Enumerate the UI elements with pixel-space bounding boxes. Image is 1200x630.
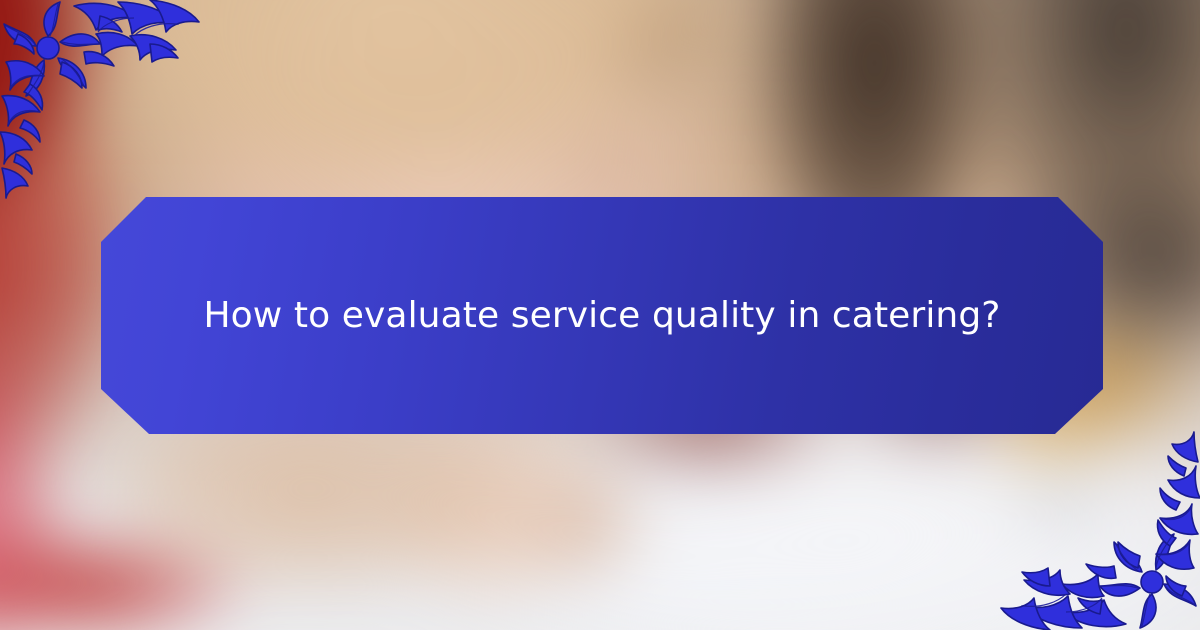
title-banner: How to evaluate service quality in cater… [101,197,1103,434]
banner-card: How to evaluate service quality in cater… [0,0,1200,630]
page-title: How to evaluate service quality in cater… [203,293,1000,338]
